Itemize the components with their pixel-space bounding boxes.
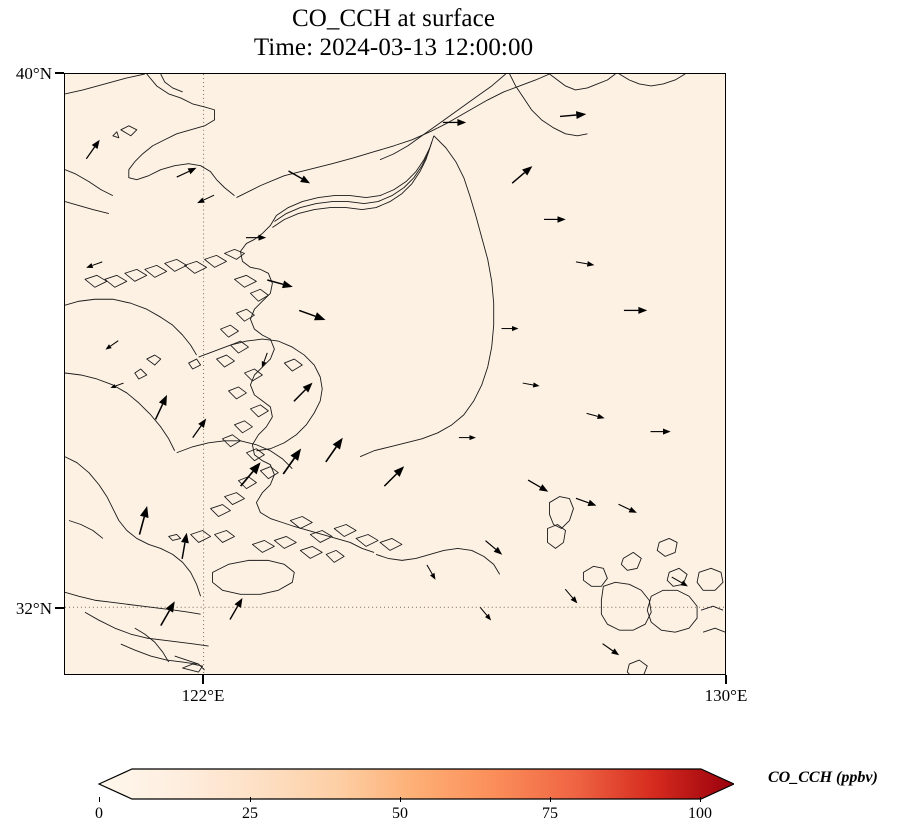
title-line-variable: CO_CCH at surface	[0, 4, 787, 33]
colorbar-label-100: 100	[665, 805, 735, 823]
colorbar-tick-25	[250, 797, 251, 802]
colorbar-tick-50	[400, 797, 401, 802]
xtick-mark-130e	[725, 675, 727, 684]
colorbar-gradient-bar	[99, 769, 734, 799]
map-svg	[65, 74, 725, 674]
map-axes[interactable]	[64, 73, 726, 675]
jeju-island	[213, 560, 295, 594]
ytick-mark-32n	[55, 607, 64, 609]
figure-canvas: CO_CCH at surface Time: 2024-03-13 12:00…	[0, 0, 921, 836]
xtick-label-130e: 130°E	[681, 686, 771, 706]
colorbar-tick-75	[550, 797, 551, 802]
xtick-mark-122e	[202, 675, 204, 684]
colorbar-tick-0	[99, 797, 100, 802]
korea-coastline	[85, 74, 587, 594]
figure-title: CO_CCH at surface Time: 2024-03-13 12:00…	[0, 4, 787, 62]
coastlines	[65, 74, 685, 672]
ytick-label-32n: 32°N	[0, 599, 52, 619]
ytick-mark-40n	[55, 72, 64, 74]
title-line-time: Time: 2024-03-13 12:00:00	[0, 33, 787, 62]
japan-coastline	[548, 497, 725, 674]
colorbar-title: CO_CCH (ppbv)	[768, 769, 878, 787]
colorbar-tick-100	[700, 797, 701, 802]
ytick-label-40n: 40°N	[0, 64, 52, 84]
colorbar-label-0: 0	[64, 805, 134, 823]
colorbar-label-50: 50	[365, 805, 435, 823]
colorbar-label-75: 75	[515, 805, 585, 823]
xtick-label-122e: 122°E	[158, 686, 248, 706]
colorbar-label-25: 25	[215, 805, 285, 823]
